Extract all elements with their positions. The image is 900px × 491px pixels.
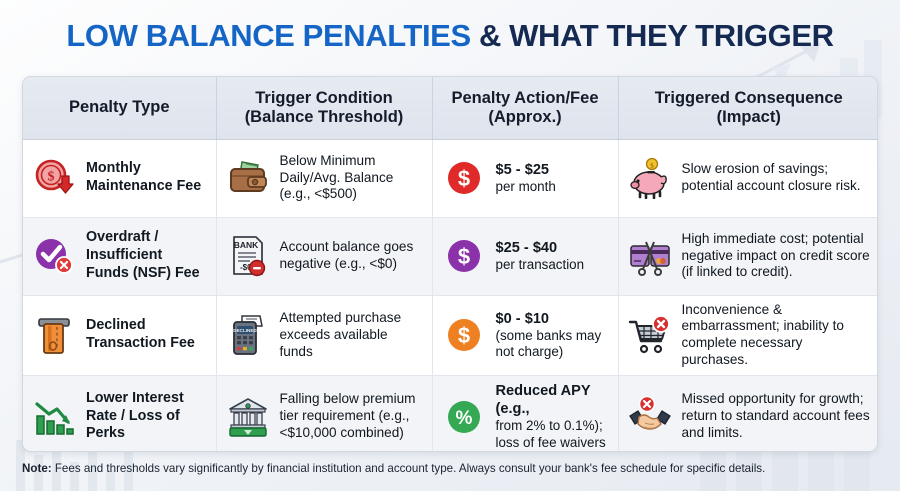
cell-consequence: High immediate cost; potential negative … bbox=[618, 217, 878, 295]
cell-penalty-type: $ Monthly Maintenance Fee bbox=[23, 139, 216, 217]
green-declining-bar-chart-icon bbox=[31, 394, 77, 440]
footer-note: Note: Fees and thresholds vary significa… bbox=[22, 462, 878, 476]
title-part-1: LOW BALANCE PENALTIES bbox=[66, 18, 470, 53]
penalty-type-label: Monthly Maintenance Fee bbox=[86, 160, 208, 195]
svg-text:$: $ bbox=[457, 323, 469, 348]
cell-penalty-type: Lower Interest Rate / Loss of Perks bbox=[23, 375, 216, 452]
footer-note-label: Note: bbox=[22, 462, 52, 475]
cell-consequence: $ Slow erosion of savings; potential acc… bbox=[618, 139, 878, 217]
fee-period: (some banks may not charge) bbox=[496, 328, 610, 361]
cell-penalty-type: Overdraft / Insufficient Funds (NSF) Fee bbox=[23, 217, 216, 295]
svg-text:$: $ bbox=[457, 244, 469, 269]
consequence-text: Slow erosion of savings; potential accou… bbox=[682, 161, 872, 195]
bank-building-down-icon bbox=[225, 394, 271, 440]
fee-amount: $25 - $40 bbox=[496, 239, 585, 257]
cell-consequence: Inconvenience & embarrassment; inability… bbox=[618, 295, 878, 375]
cell-penalty-fee: % Reduced APY (e.g., from 2% to 0.1%); l… bbox=[432, 375, 618, 452]
red-coin-down-arrow-icon: $ bbox=[31, 155, 77, 201]
fee-period: from 2% to 0.1%); loss of fee waivers bbox=[496, 418, 610, 451]
cell-penalty-fee: $ $0 - $10 (some banks may not charge) bbox=[432, 295, 618, 375]
cell-penalty-fee: $ $5 - $25 per month bbox=[432, 139, 618, 217]
penalty-type-label: Declined Transaction Fee bbox=[86, 317, 208, 352]
cell-trigger-condition: DECLINED Attempted purchase exceeds avai… bbox=[216, 295, 432, 375]
cell-trigger-condition: Below Minimum Daily/Avg. Balance (e.g., … bbox=[216, 139, 432, 217]
column-header-triggered-consequence: Triggered Consequence (Impact) bbox=[618, 77, 878, 139]
penalty-type-label: Overdraft / Insufficient Funds (NSF) Fee bbox=[86, 229, 208, 282]
handshake-error-icon bbox=[627, 394, 673, 440]
cell-trigger-condition: BANK -$0 Account balance goes negative (… bbox=[216, 217, 432, 295]
svg-text:$: $ bbox=[457, 166, 469, 191]
consequence-text: Inconvenience & embarrassment; inability… bbox=[682, 302, 872, 369]
table-row: Overdraft / Insufficient Funds (NSF) Fee… bbox=[23, 217, 878, 295]
header-line-1: Penalty Type bbox=[29, 98, 210, 117]
column-header-trigger-condition: Trigger Condition (Balance Threshold) bbox=[216, 77, 432, 139]
trigger-condition-text: Attempted purchase exceeds available fun… bbox=[280, 310, 424, 361]
footer-note-text: Fees and thresholds vary significantly b… bbox=[52, 462, 766, 475]
trigger-condition-text: Falling below premium tier requirement (… bbox=[280, 391, 424, 442]
bank-statement-negative-icon: BANK -$0 bbox=[225, 233, 271, 279]
header-line-2: (Impact) bbox=[625, 108, 874, 127]
consequence-text: High immediate cost; potential negative … bbox=[682, 231, 872, 282]
header-line-2: (Balance Threshold) bbox=[223, 108, 426, 127]
red-dollar-circle-icon: $ bbox=[441, 155, 487, 201]
wallet-cash-icon bbox=[225, 155, 271, 201]
purple-dollar-circle-icon: $ bbox=[441, 233, 487, 279]
title-part-2: & WHAT THEY TRIGGER bbox=[479, 18, 834, 53]
header-line-1: Triggered Consequence bbox=[625, 89, 874, 108]
table-row: Declined Transaction Fee DECLINED bbox=[23, 295, 878, 375]
penalties-table-card: Penalty Type Trigger Condition (Balance … bbox=[22, 76, 878, 452]
table-row: $ Monthly Maintenance Fee bbox=[23, 139, 878, 217]
table-header-row: Penalty Type Trigger Condition (Balance … bbox=[23, 77, 878, 139]
penalty-type-label: Lower Interest Rate / Loss of Perks bbox=[86, 390, 208, 443]
column-header-penalty-type: Penalty Type bbox=[23, 77, 216, 139]
card-terminal-declined-icon: DECLINED bbox=[225, 312, 271, 358]
piggy-bank-coin-icon: $ bbox=[627, 155, 673, 201]
svg-text:%: % bbox=[455, 408, 472, 429]
page-title: LOW BALANCE PENALTIES & WHAT THEY TRIGGE… bbox=[0, 18, 900, 54]
header-line-1: Trigger Condition bbox=[223, 89, 426, 108]
cut-credit-card-icon bbox=[627, 233, 673, 279]
cell-penalty-fee: $ $25 - $40 per transaction bbox=[432, 217, 618, 295]
table-row: Lower Interest Rate / Loss of Perks bbox=[23, 375, 878, 452]
fee-amount: $5 - $25 bbox=[496, 161, 556, 179]
green-percent-circle-icon: % bbox=[441, 394, 487, 440]
consequence-text: Missed opportunity for growth; return to… bbox=[682, 391, 872, 442]
fee-amount: $0 - $10 bbox=[496, 310, 610, 328]
fee-amount: Reduced APY (e.g., bbox=[496, 382, 610, 418]
svg-text:DECLINED: DECLINED bbox=[233, 328, 257, 333]
header-line-1: Penalty Action/Fee bbox=[439, 89, 612, 108]
trigger-condition-text: Below Minimum Daily/Avg. Balance (e.g., … bbox=[280, 153, 424, 204]
shopping-cart-error-icon bbox=[627, 312, 673, 358]
purple-check-error-icon bbox=[31, 233, 77, 279]
orange-dollar-circle-icon: $ bbox=[441, 312, 487, 358]
cell-trigger-condition: Falling below premium tier requirement (… bbox=[216, 375, 432, 452]
column-header-penalty-action-fee: Penalty Action/Fee (Approx.) bbox=[432, 77, 618, 139]
svg-text:BANK: BANK bbox=[233, 240, 258, 250]
svg-text:$: $ bbox=[650, 162, 654, 170]
cell-penalty-type: Declined Transaction Fee bbox=[23, 295, 216, 375]
svg-text:$: $ bbox=[48, 170, 55, 185]
trigger-condition-text: Account balance goes negative (e.g., <$0… bbox=[280, 239, 424, 273]
header-line-2: (Approx.) bbox=[439, 108, 612, 127]
orange-card-slot-icon bbox=[31, 312, 77, 358]
fee-period: per transaction bbox=[496, 257, 585, 274]
fee-period: per month bbox=[496, 179, 556, 196]
penalties-table: Penalty Type Trigger Condition (Balance … bbox=[23, 77, 878, 452]
cell-consequence: Missed opportunity for growth; return to… bbox=[618, 375, 878, 452]
